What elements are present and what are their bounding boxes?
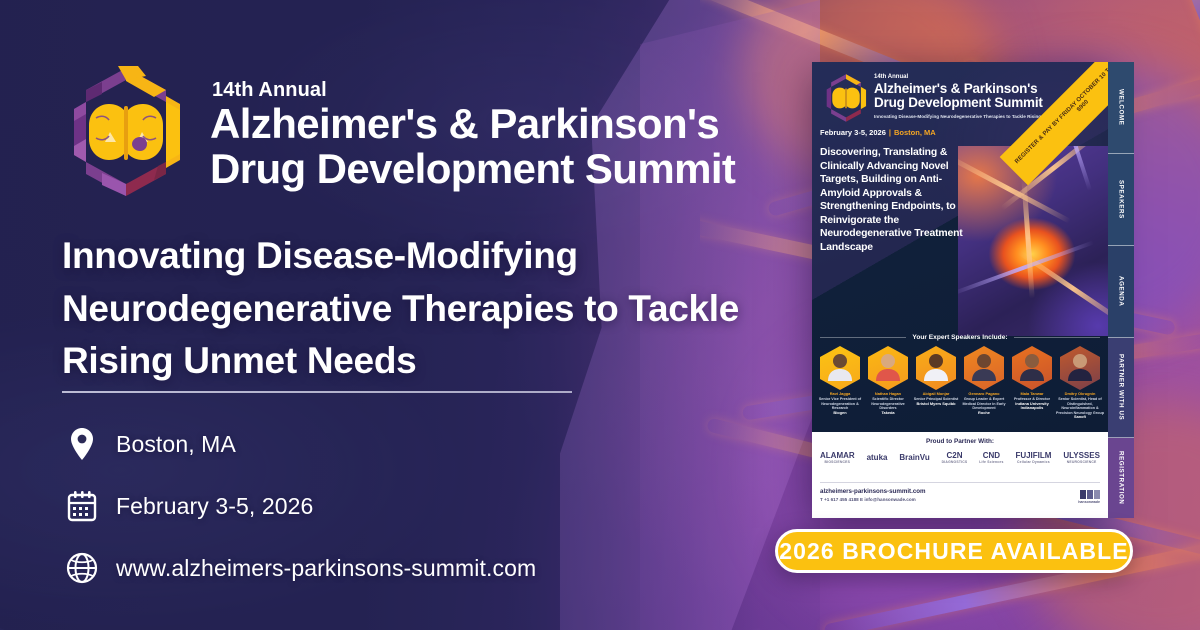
partner-logo-name: CND <box>983 451 1000 460</box>
detail-date-label: February 3-5, 2026 <box>116 493 313 520</box>
brochure-footer: Proud to Partner With: ALAMARBIOSCIENCES… <box>812 432 1108 518</box>
brochure-top: 14th Annual Alzheimer's & Parkinson's Dr… <box>812 62 1108 432</box>
side-tab-welcome[interactable]: WELCOME <box>1108 62 1134 154</box>
brochure-body-text: Discovering, Translating & Clinically Ad… <box>820 146 966 254</box>
partner-logo: atuka <box>867 454 888 463</box>
speaker-avatar <box>868 346 908 390</box>
brochure-side-tabs: WELCOME SPEAKERS AGENDA PARTNER WITH US … <box>1108 62 1134 518</box>
brochure-logo-icon <box>822 72 870 124</box>
promo-banner: 14th Annual Alzheimer's & Parkinson's Dr… <box>0 0 1200 630</box>
partner-logo: BrainVu <box>899 454 929 463</box>
speakers-header-label: Your Expert Speakers Include: <box>912 334 1007 341</box>
speaker-company: Sanofi <box>1056 415 1104 420</box>
left-content: 14th Annual Alzheimer's & Parkinson's Dr… <box>0 0 760 630</box>
brain-hexagon-logo-icon <box>62 62 190 202</box>
partner-header-label: Proud to Partner With: <box>812 438 1108 445</box>
partner-logo-sub: Cellular Dynamics <box>1015 461 1051 464</box>
speaker-company: Takeda <box>864 411 912 416</box>
speaker-list: Ravi Jagga Senior Vice President of Neur… <box>816 346 1106 420</box>
brochure-date: February 3-5, 2026 <box>820 128 886 137</box>
partner-logo: C2NDIAGNOSTICS <box>942 452 968 464</box>
brochure-date-line: February 3-5, 2026|Boston, MA <box>820 128 936 137</box>
speaker-card: Abigail Monjar Senior Principal Scientis… <box>912 346 960 420</box>
speaker-company: Biogen <box>816 411 864 416</box>
partner-logo-name: BrainVu <box>899 453 929 462</box>
side-tab-registration[interactable]: REGISTRATION <box>1108 438 1134 518</box>
partner-logo-sub: NEUROSCIENCE <box>1063 461 1100 464</box>
publisher-name: hansonwade <box>1078 500 1100 504</box>
brochure-footer-website: alzheimers-parkinsons-summit.com <box>820 488 926 495</box>
speaker-role: Group Leader & Expert Medical Director i… <box>960 397 1008 411</box>
brochure-footer-contact: T +1 617 455 4188 E info@hansonwade.com <box>820 497 926 502</box>
speakers-header-rule-left <box>820 337 906 338</box>
speaker-role: Senior Scientist, Head of Distinguished,… <box>1056 397 1104 416</box>
partner-logo-name: atuka <box>867 453 888 462</box>
brochure-cta-button[interactable]: 2026 BROCHURE AVAILABLE <box>775 529 1133 573</box>
speaker-company: Indiana University Indianapolis <box>1008 402 1056 412</box>
partner-logo-name: FUJIFILM <box>1015 451 1051 460</box>
speaker-card: Mala Tanwar Professor & Director Indiana… <box>1008 346 1056 420</box>
speaker-card: Ravi Jagga Senior Vice President of Neur… <box>816 346 864 420</box>
speaker-company: Bristol Myers Squibb <box>912 402 960 407</box>
brochure-annual-label: 14th Annual <box>874 74 908 80</box>
side-tab-partner-with-us[interactable]: PARTNER WITH US <box>1108 338 1134 438</box>
side-tab-label: PARTNER WITH US <box>1118 354 1125 420</box>
partner-logo: ULYSSESNEUROSCIENCE <box>1063 452 1100 464</box>
calendar-icon <box>60 490 104 522</box>
side-tab-label: REGISTRATION <box>1118 451 1125 505</box>
speaker-card: Nathan Hagan Scientific Director Neurode… <box>864 346 912 420</box>
partner-logo-sub: DIAGNOSTICS <box>942 461 968 464</box>
event-details: Boston, MA <box>60 420 700 606</box>
publisher-mark-icon <box>1078 490 1100 499</box>
side-tab-speakers[interactable]: SPEAKERS <box>1108 154 1134 246</box>
side-tab-label: AGENDA <box>1118 276 1125 306</box>
detail-location-label: Boston, MA <box>116 431 236 458</box>
brochure-cta-label: 2026 BROCHURE AVAILABLE <box>779 538 1128 565</box>
speaker-role: Scientific Director Neurodegenerative Di… <box>864 397 912 411</box>
brochure-date-separator: | <box>889 128 891 137</box>
partner-logo-sub: BIOSCIENCES <box>820 461 855 464</box>
side-tab-agenda[interactable]: AGENDA <box>1108 246 1134 338</box>
partner-logo-list: ALAMARBIOSCIENCES atuka BrainVu C2NDIAGN… <box>820 452 1100 464</box>
brochure-cover[interactable]: 14th Annual Alzheimer's & Parkinson's Dr… <box>812 62 1108 518</box>
annual-label: 14th Annual <box>212 79 735 102</box>
detail-website[interactable]: www.alzheimers-parkinsons-summit.com <box>60 544 700 592</box>
event-title-line1: Alzheimer's & Parkinson's <box>210 102 735 147</box>
speaker-avatar <box>820 346 860 390</box>
location-pin-icon <box>60 427 104 461</box>
speakers-header-rule-right <box>1014 337 1100 338</box>
speaker-avatar <box>916 346 956 390</box>
speaker-role: Senior Vice President of Neurodegenerati… <box>816 397 864 411</box>
speaker-avatar <box>964 346 1004 390</box>
speaker-avatar <box>1060 346 1100 390</box>
event-title-line2: Drug Development Summit <box>210 147 735 192</box>
partner-logo-sub: Life Sciences <box>979 461 1003 464</box>
speaker-card: Gennaro Pagano Group Leader & Expert Med… <box>960 346 1008 420</box>
speaker-card: Dmitry Okrugnin Senior Scientist, Head o… <box>1056 346 1104 420</box>
globe-icon <box>60 552 104 584</box>
partner-logo-name: ALAMAR <box>820 451 855 460</box>
partner-logo-name: C2N <box>946 451 962 460</box>
speakers-header: Your Expert Speakers Include: <box>820 334 1100 341</box>
speaker-avatar <box>1012 346 1052 390</box>
divider <box>62 391 572 393</box>
side-tab-label: WELCOME <box>1118 89 1125 126</box>
early-bird-ribbon-label: Register & Pay By Friday October 10 To S… <box>1009 62 1108 176</box>
partner-logo: ALAMARBIOSCIENCES <box>820 452 855 464</box>
detail-website-label[interactable]: www.alzheimers-parkinsons-summit.com <box>116 555 536 582</box>
side-tab-label: SPEAKERS <box>1118 180 1125 219</box>
speaker-company: Roche <box>960 411 1008 416</box>
early-bird-ribbon: Register & Pay By Friday October 10 To S… <box>992 62 1108 206</box>
brochure-city: Boston, MA <box>894 128 936 137</box>
footer-rule <box>820 482 1100 483</box>
partner-logo: CNDLife Sciences <box>979 452 1003 464</box>
event-logo-lockup: 14th Annual Alzheimer's & Parkinson's Dr… <box>62 62 735 202</box>
partner-logo: FUJIFILMCellular Dynamics <box>1015 452 1051 464</box>
brochure-contact: alzheimers-parkinsons-summit.com T +1 61… <box>820 488 926 502</box>
publisher-logo: hansonwade <box>1078 490 1100 504</box>
partner-logo-name: ULYSSES <box>1063 451 1100 460</box>
page-title: Innovating Disease-Modifying Neurodegene… <box>62 230 742 388</box>
detail-location: Boston, MA <box>60 420 700 468</box>
detail-date: February 3-5, 2026 <box>60 482 700 530</box>
